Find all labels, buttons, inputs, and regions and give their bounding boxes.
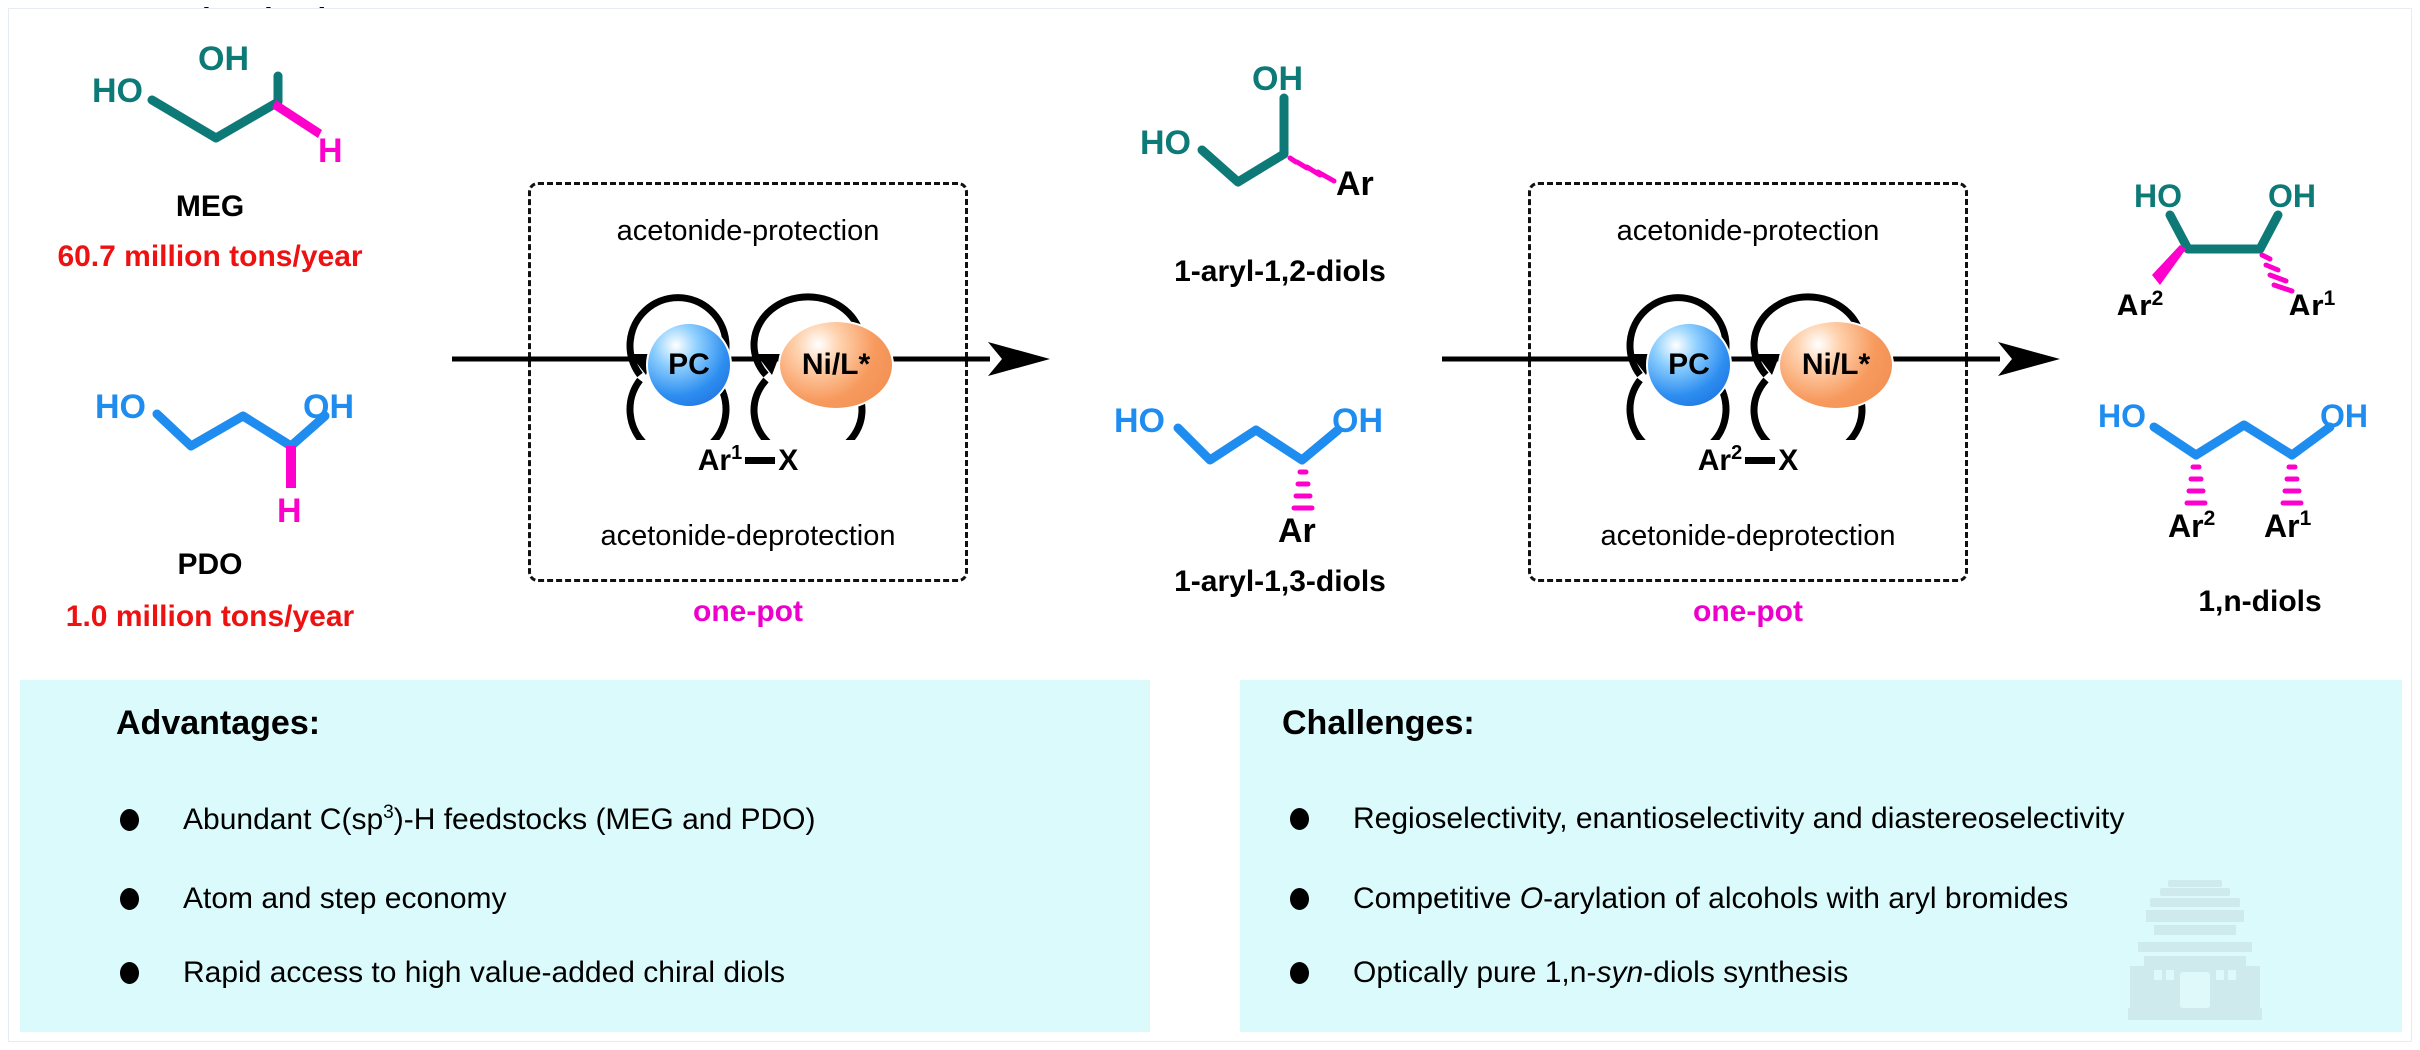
challenges-item-1: Regioselectivity, enantioselectivity and…	[1290, 802, 2125, 836]
meg-top-oh: OH	[198, 40, 249, 78]
diol12-name: 1-aryl-1,2-diols	[1090, 255, 1470, 289]
bullet-icon	[120, 809, 139, 831]
pdo-name: PDO	[60, 548, 360, 582]
advantages-title: Advantages:	[116, 704, 320, 743]
prod1n-ar1-hash	[2283, 467, 2301, 503]
step2-arrow-head	[1998, 342, 2060, 376]
prod1n-ar1-pre: Ar	[2264, 508, 2300, 544]
meg-structure: HO OH H	[90, 40, 390, 180]
prod1n-name: 1,n-diols	[2110, 585, 2410, 619]
prod12-ar1-pre: Ar	[2288, 288, 2324, 315]
prod1n-ar2-sup: 2	[2204, 507, 2216, 530]
step1-reagent-bond	[745, 457, 775, 464]
prod1n-bonds	[2154, 425, 2330, 455]
diol12-bonds	[1202, 98, 1284, 182]
advantages-item-1-pre: Abundant C(sp	[183, 803, 383, 836]
diol13-hash-bond	[1294, 472, 1312, 508]
step1-ni-sphere: Ni/L*	[778, 320, 894, 410]
university-watermark-icon	[2120, 880, 2270, 1030]
step2-reagent: Ar2X	[1528, 442, 1968, 478]
challenges-item-2-italic: O	[1520, 882, 1543, 915]
meg-left-oh: HO	[92, 72, 143, 110]
prod1n-structure: HO OH Ar2 Ar1	[2090, 385, 2420, 565]
prod12-ar2-wedge	[2152, 245, 2186, 285]
prod12-bonds	[2170, 215, 2278, 249]
prod12-ar1-sup: 1	[2324, 287, 2336, 310]
pdo-bonds	[157, 414, 325, 446]
step2-ni-sphere: Ni/L*	[1778, 320, 1894, 410]
challenges-item-2-text: Competitive O-arylation of alcohols with…	[1353, 882, 2068, 916]
step1-reagent-post: X	[778, 444, 798, 477]
diol13-left-oh: HO	[1114, 402, 1165, 440]
challenges-item-2: Competitive O-arylation of alcohols with…	[1290, 882, 2068, 916]
diol13-bonds	[1178, 428, 1338, 460]
prod12-ar2-label: Ar2	[2116, 287, 2163, 315]
diol12-top-oh: OH	[1252, 60, 1303, 98]
prod12-ar1-label: Ar1	[2288, 287, 2336, 315]
prod1n-ar2-label: Ar2	[2168, 507, 2215, 544]
challenges-item-2-post: -arylation of alcohols with aryl bromide…	[1543, 882, 2068, 915]
step1-arrow-head	[988, 342, 1050, 376]
step1-reagent: Ar1X	[528, 442, 968, 478]
pdo-structure: HO OH H	[95, 380, 395, 540]
bullet-icon	[1290, 962, 1309, 984]
step1-ni-label: Ni/L*	[780, 348, 892, 382]
diol13-structure: HO OH Ar	[1110, 390, 1450, 560]
step1-reagent-sup: 1	[731, 442, 742, 464]
step2-protection-label: acetonide-protection	[1528, 215, 1968, 248]
challenges-panel: Challenges: Regioselectivity, enantiosel…	[1240, 680, 2402, 1032]
step2-reagent-bond	[1745, 457, 1775, 464]
step1-pc-label: PC	[648, 348, 730, 382]
step2-deprotection-label: acetonide-deprotection	[1528, 520, 1968, 553]
prod12-ar2-pre: Ar	[2116, 288, 2152, 315]
prod12-ar2-sup: 2	[2152, 287, 2164, 310]
step1-pc-sphere: PC	[646, 322, 732, 408]
diol13-name: 1-aryl-1,3-diols	[1090, 565, 1470, 599]
prod12-structure: HO OH Ar2 Ar1	[2110, 165, 2410, 315]
advantages-panel: Advantages: Abundant C(sp3)-H feedstocks…	[20, 680, 1150, 1032]
pdo-stat: 1.0 million tons/year	[20, 600, 400, 634]
bullet-icon	[120, 888, 139, 910]
prod1n-ar1-label: Ar1	[2264, 507, 2312, 544]
pdo-h-label: H	[277, 492, 302, 530]
advantages-item-1-post: )-H feedstocks (MEG and PDO)	[394, 803, 816, 836]
advantages-item-3: Rapid access to high value-added chiral …	[120, 956, 785, 990]
prod1n-ar2-pre: Ar	[2168, 508, 2204, 544]
prod1n-ar2-hash	[2187, 467, 2205, 503]
challenges-item-3: Optically pure 1,n-syn-diols synthesis	[1290, 956, 1848, 990]
prod12-ar1-hash	[2262, 255, 2292, 291]
challenges-item-3-post: -diols synthesis	[1643, 956, 1848, 989]
advantages-item-1-text: Abundant C(sp3)-H feedstocks (MEG and PD…	[183, 802, 816, 837]
diol12-structure: HO OH Ar	[1130, 50, 1450, 200]
advantages-item-3-text: Rapid access to high value-added chiral …	[183, 956, 785, 990]
step1-one-pot-label: one-pot	[528, 595, 968, 629]
advantages-item-2-text: Atom and step economy	[183, 882, 507, 916]
step1-deprotection-label: acetonide-deprotection	[528, 520, 968, 553]
challenges-item-3-text: Optically pure 1,n-syn-diols synthesis	[1353, 956, 1848, 990]
challenges-title: Challenges:	[1282, 704, 1475, 743]
advantages-item-1: Abundant C(sp3)-H feedstocks (MEG and PD…	[120, 802, 816, 837]
step2-ni-label: Ni/L*	[1780, 348, 1892, 382]
meg-stat: 60.7 million tons/year	[20, 240, 400, 274]
bullet-icon	[1290, 888, 1309, 910]
step2-pc-sphere: PC	[1646, 322, 1732, 408]
step2-one-pot-label: one-pot	[1528, 595, 1968, 629]
bullet-icon	[1290, 808, 1309, 830]
meg-bonds	[152, 76, 278, 138]
step2-reagent-sup: 2	[1731, 442, 1742, 464]
challenges-item-3-pre: Optically pure 1,n-	[1353, 956, 1596, 989]
prod1n-ar1-sup: 1	[2300, 507, 2312, 530]
step2-reagent-post: X	[1778, 444, 1798, 477]
figure-canvas: HO OH H MEG 60.7 million tons/year HO OH…	[0, 0, 2420, 1050]
diol12-ar-label: Ar	[1336, 165, 1374, 200]
advantages-item-2: Atom and step economy	[120, 882, 507, 916]
diol13-ar-label: Ar	[1278, 512, 1316, 550]
diol12-left-oh: HO	[1140, 124, 1191, 162]
pdo-right-oh: OH	[303, 388, 354, 426]
meg-name: MEG	[60, 190, 360, 224]
advantages-item-1-sup: 3	[383, 802, 394, 823]
step2-pc-label: PC	[1648, 348, 1730, 382]
challenges-item-2-pre: Competitive	[1353, 882, 1520, 915]
prod12-right-oh: OH	[2268, 178, 2316, 214]
prod12-left-oh: HO	[2134, 178, 2182, 214]
challenges-item-1-text: Regioselectivity, enantioselectivity and…	[1353, 802, 2125, 836]
step1-protection-label: acetonide-protection	[528, 215, 968, 248]
prod1n-left-oh: HO	[2098, 398, 2146, 434]
challenges-item-3-italic: syn	[1596, 956, 1643, 989]
bullet-icon	[120, 962, 139, 984]
step2-reagent-pre: Ar	[1698, 444, 1731, 477]
meg-wedge-bond	[272, 100, 322, 138]
meg-h-label: H	[318, 132, 343, 170]
pdo-left-oh: HO	[95, 388, 146, 426]
diol12-hash-bond	[1290, 158, 1334, 181]
step1-reagent-pre: Ar	[698, 444, 731, 477]
